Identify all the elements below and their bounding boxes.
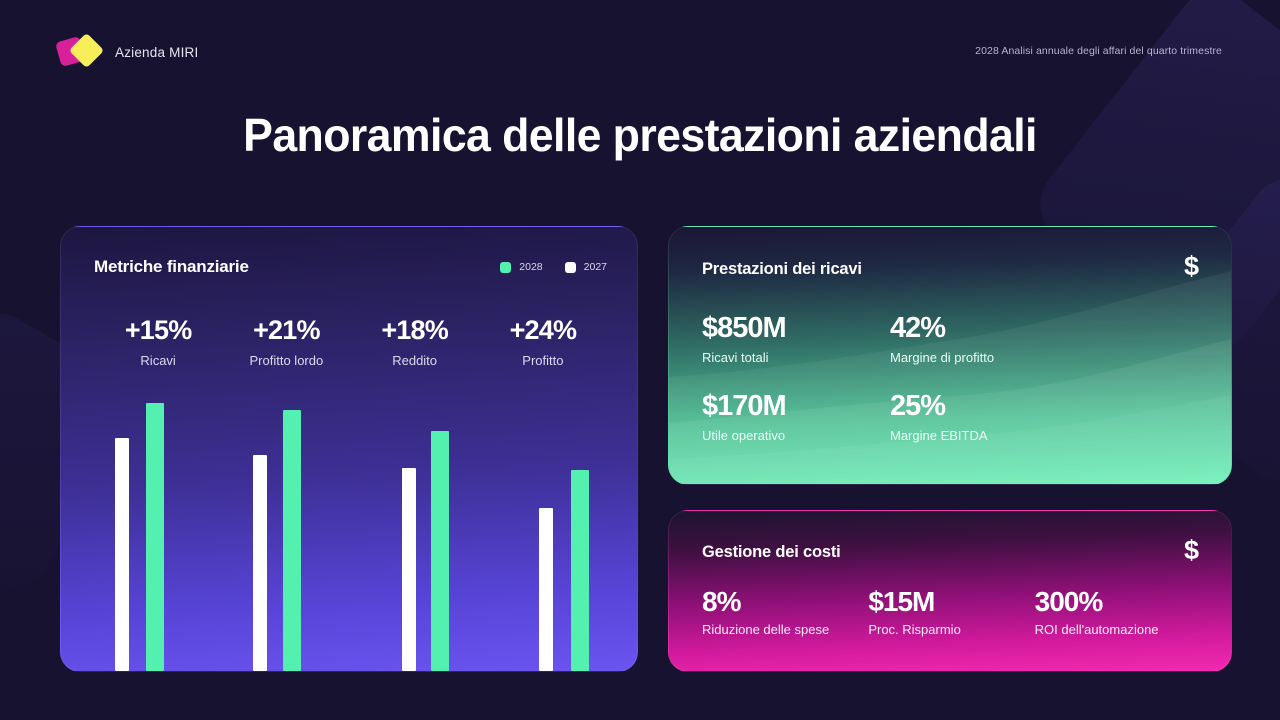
- revenue-card-title: Prestazioni dei ricavi: [702, 260, 862, 279]
- bar-2027-profitto: [539, 508, 553, 671]
- bar-2028-profitto: [571, 470, 589, 671]
- metric-margine-di-profitto: 42% Margine di profitto: [890, 313, 1078, 365]
- kpi-ricavi: +15% Ricavi: [94, 315, 222, 368]
- brand[interactable]: Azienda MIRI: [58, 36, 198, 68]
- metrics-header: Metriche finanziarie 2028 2027: [94, 257, 607, 277]
- revenue-row: $850M Ricavi totali 42% Margine di profi…: [702, 313, 1201, 365]
- chart-legend: 2028 2027: [500, 261, 607, 273]
- dollar-icon: $: [1184, 251, 1199, 282]
- metric-label: Margine di profitto: [890, 350, 1078, 365]
- bar-2027-profitto-lordo: [253, 455, 267, 671]
- metric-roi-automazione: 300% ROI dell'automazione: [1035, 587, 1201, 637]
- metric-value: 300%: [1035, 587, 1201, 618]
- kpi-label: Ricavi: [94, 353, 222, 368]
- metric-value: 8%: [702, 587, 868, 618]
- legend-swatch-icon: [565, 262, 576, 273]
- kpi-value: +15%: [94, 315, 222, 346]
- legend-label: 2027: [584, 261, 607, 273]
- legend-label: 2028: [519, 261, 542, 273]
- revenue-metrics-grid: $850M Ricavi totali 42% Margine di profi…: [702, 313, 1201, 469]
- kpi-label: Reddito: [351, 353, 479, 368]
- page-header: Azienda MIRI 2028 Analisi annuale degli …: [0, 0, 1280, 100]
- metric-label: Proc. Risparmio: [868, 622, 1034, 637]
- kpi-reddito: +18% Reddito: [351, 315, 479, 368]
- kpi-value: +18%: [351, 315, 479, 346]
- header-meta: 2028 Analisi annuale degli affari del qu…: [975, 45, 1222, 57]
- bar-2027-ricavi: [115, 438, 129, 671]
- metric-label: Utile operativo: [702, 428, 890, 443]
- metric-utile-operativo: $170M Utile operativo: [702, 391, 890, 443]
- metric-value: $15M: [868, 587, 1034, 618]
- kpi-label: Profitto lordo: [222, 353, 350, 368]
- costs-card-title: Gestione dei costi: [702, 543, 841, 562]
- financial-metrics-card: Metriche finanziarie 2028 2027 +15% Rica…: [60, 226, 638, 672]
- dual-square-logo-icon: [58, 36, 102, 68]
- page-title: Panoramica delle prestazioni aziendali: [19, 108, 1261, 162]
- dollar-icon: $: [1184, 535, 1199, 566]
- legend-item-2028[interactable]: 2028: [500, 261, 542, 273]
- bar-2028-reddito: [431, 431, 449, 671]
- kpi-value: +24%: [479, 315, 607, 346]
- metric-value: $850M: [702, 313, 890, 345]
- metrics-card-title: Metriche finanziarie: [94, 257, 249, 277]
- metric-riduzione-delle-spese: 8% Riduzione delle spese: [702, 587, 868, 637]
- kpi-label: Profitto: [479, 353, 607, 368]
- metric-ricavi-totali: $850M Ricavi totali: [702, 313, 890, 365]
- bar-2027-reddito: [402, 468, 416, 671]
- bar-2028-profitto-lordo: [283, 410, 301, 671]
- metric-label: Ricavi totali: [702, 350, 890, 365]
- kpi-row: +15% Ricavi +21% Profitto lordo +18% Red…: [94, 315, 607, 368]
- metric-label: Margine EBITDA: [890, 428, 1078, 443]
- revenue-row: $170M Utile operativo 25% Margine EBITDA: [702, 391, 1201, 443]
- bar-2028-ricavi: [146, 403, 164, 671]
- kpi-value: +21%: [222, 315, 350, 346]
- metric-margine-ebitda: 25% Margine EBITDA: [890, 391, 1078, 443]
- metric-value: $170M: [702, 391, 890, 423]
- kpi-profitto-lordo: +21% Profitto lordo: [222, 315, 350, 368]
- legend-item-2027[interactable]: 2027: [565, 261, 607, 273]
- legend-swatch-icon: [500, 262, 511, 273]
- brand-name: Azienda MIRI: [115, 45, 198, 60]
- cost-management-card: Gestione dei costi $ 8% Riduzione delle …: [668, 510, 1232, 672]
- revenue-performance-card: Prestazioni dei ricavi $ $850M Ricavi to…: [668, 226, 1232, 485]
- cost-metrics-grid: 8% Riduzione delle spese $15M Proc. Risp…: [702, 587, 1201, 637]
- metric-label: Riduzione delle spese: [702, 622, 868, 637]
- metric-value: 42%: [890, 313, 1078, 345]
- metric-value: 25%: [890, 391, 1078, 423]
- grouped-bar-chart: [61, 397, 637, 671]
- metric-proc-risparmio: $15M Proc. Risparmio: [868, 587, 1034, 637]
- metric-label: ROI dell'automazione: [1035, 622, 1201, 637]
- kpi-profitto: +24% Profitto: [479, 315, 607, 368]
